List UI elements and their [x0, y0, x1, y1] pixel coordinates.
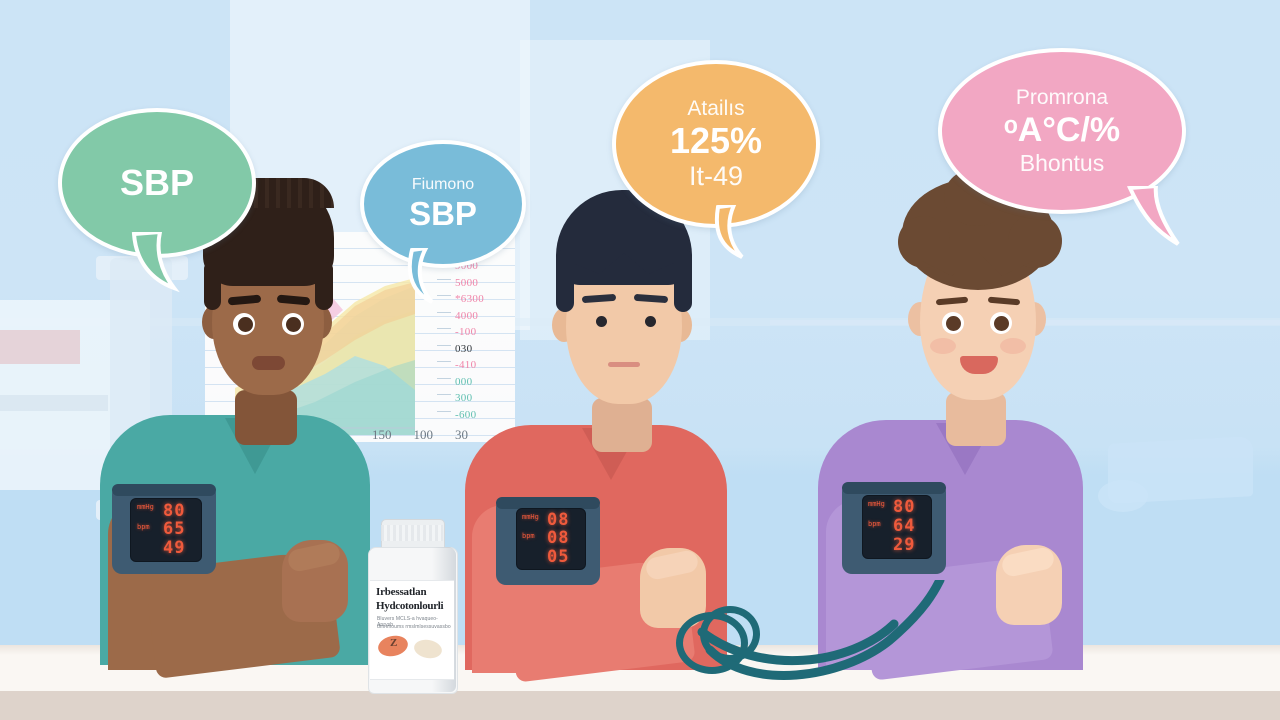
bubble-orange-line-2: 125% [670, 121, 762, 161]
bubble-orange-line-1: Atailıs [687, 97, 744, 121]
person-left-mouth [252, 356, 285, 370]
bubble-orange-line-3: It-49 [689, 161, 743, 192]
person-left-cuff-band [112, 484, 216, 496]
speech-bubble-orange: Atailıs 125% It-49 [612, 60, 820, 228]
person-center-mouth [608, 362, 640, 367]
person-right-cuff-unit-1: mmHg [868, 500, 885, 508]
bubble-orange-tail [700, 205, 770, 265]
pill-imprint-text: Z [390, 637, 397, 649]
bottle-label: Irbessatlan Hydcotonlourli Bluvers MCLS-… [370, 580, 454, 680]
person-left-sideburn-right [315, 262, 333, 310]
background-blue-shape-2 [1098, 480, 1148, 512]
person-left-neck [235, 390, 297, 445]
chart-x-label-2: 30 [455, 427, 468, 447]
chart-y-axis-labels: 9000 5000 *6300 4000 -100 030 -410 000 3… [455, 258, 525, 443]
person-left-cuff-unit-2: bpm [137, 523, 150, 531]
person-right-cuff-value-3: 29 [893, 535, 915, 555]
bubble-blue-line-1: Fiumono [412, 176, 474, 194]
person-left-cuff-value-1: 80 [163, 501, 185, 521]
person-right-cuff-value-2: 64 [893, 516, 915, 536]
person-left-pupil-left [238, 317, 253, 332]
bubble-pink-line-2: ᵒA°C/% [1004, 110, 1120, 150]
person-left-cuff-value-2: 65 [163, 519, 185, 539]
bottle-label-line-2: Hydcotonlourli [376, 600, 443, 612]
person-left-cuff-unit-1: mmHg [137, 503, 154, 511]
person-right-cuff-band [842, 482, 946, 494]
chart-x-label-0: 150 [372, 427, 392, 447]
person-right-pupil-right [994, 316, 1009, 331]
person-right-cuff-unit-2: bpm [868, 520, 881, 528]
person-center-eye-left [596, 316, 607, 327]
person-right-pupil-left [946, 316, 961, 331]
bubble-pink-line-1: Promrona [1016, 86, 1108, 110]
counter-edge [0, 691, 1280, 720]
chart-x-label-1: 100 [414, 427, 434, 447]
person-center-sideburn-left [556, 250, 574, 312]
bubble-pink-tail [1120, 186, 1200, 252]
bubble-blue-tail [392, 248, 452, 308]
bubble-blue-line-2: SBP [409, 195, 477, 233]
chart-y-label-4: -100 [455, 324, 525, 341]
bubble-green-text: SBP [120, 162, 194, 204]
chart-y-label-8: 300 [455, 390, 525, 407]
person-right-cuff-value-1: 80 [893, 497, 915, 517]
person-left-pupil-right [286, 317, 301, 332]
person-center-cuff-unit-2: bpm [522, 532, 535, 540]
bp-tubing-path [640, 580, 980, 690]
chart-y-label-2: *6300 [455, 291, 525, 308]
person-left-cuff-value-3: 49 [163, 538, 185, 558]
bubble-green-tail [126, 232, 196, 294]
person-center-cuff-unit-1: mmHg [522, 513, 539, 521]
person-center-cuff-value-2: 08 [547, 528, 569, 548]
person-center-neck [592, 398, 652, 452]
person-right-cheek-left [930, 338, 956, 354]
bubble-pink-line-3: Bhontus [1020, 150, 1104, 177]
illustration-scene: 9000 5000 *6300 4000 -100 030 -410 000 3… [0, 0, 1280, 720]
person-left-cuff-display: mmHg 80 bpm 65 49 [130, 498, 202, 562]
person-center-sideburn-right [674, 250, 692, 312]
bottle-cap-ridges [381, 525, 443, 541]
chart-y-label-5: 030 [455, 341, 525, 358]
person-center-cuff-value-3: 05 [547, 547, 569, 567]
person-right-cuff-display: mmHg 80 bpm 64 29 [862, 495, 932, 559]
person-center-eye-right [645, 316, 656, 327]
bottle-label-fine-2: dmnmoums rmslmlsessuvassbo [377, 624, 451, 630]
poster-red-bar [0, 330, 80, 364]
person-left-sideburn-left [204, 262, 221, 310]
bottle-label-line-1: Irbessatlan [376, 586, 426, 598]
person-center-cuff-value-1: 08 [547, 510, 569, 530]
poster-grey-bar [0, 395, 108, 411]
chart-y-label-7: 000 [455, 374, 525, 391]
chart-y-label-6: -410 [455, 357, 525, 374]
person-right-cheek-right [1000, 338, 1026, 354]
person-right-neck [946, 392, 1006, 446]
chart-y-label-9: -600 [455, 407, 525, 424]
person-center-cuff-display: mmHg 08 bpm 08 05 [516, 508, 586, 570]
chart-y-label-3: 4000 [455, 308, 525, 325]
chart-y-label-1: 5000 [455, 275, 525, 292]
